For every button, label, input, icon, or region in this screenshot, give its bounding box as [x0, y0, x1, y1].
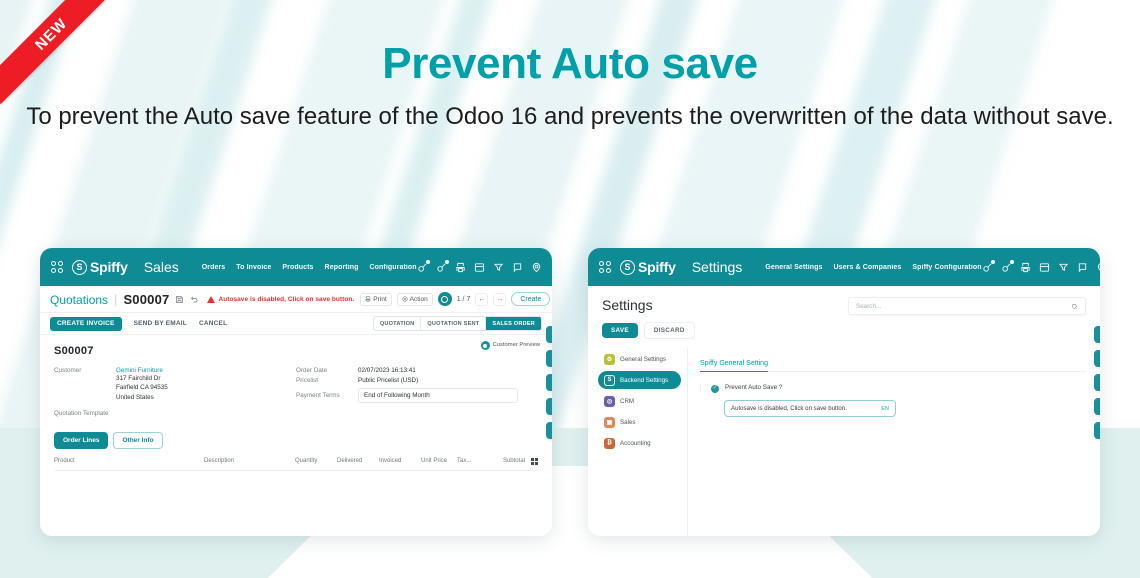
settings-navbar: S Spiffy Settings General Settings Users…	[588, 248, 1100, 286]
search-placeholder: Search...	[856, 303, 881, 310]
megaphone-icon[interactable]	[493, 262, 504, 273]
bookmark-icon[interactable]	[1094, 422, 1100, 439]
autosave-message-value: Autosave is disabled, Click on save butt…	[731, 405, 847, 412]
search-icon[interactable]	[1094, 350, 1100, 367]
spiffy-icon: S	[604, 375, 615, 386]
spiffy-logo-icon: S	[620, 260, 635, 275]
sidebar-item-label: General Settings	[620, 356, 666, 363]
form-column-right: Order Date 02/07/2023 16:13:41 Pricelist…	[296, 367, 538, 420]
current-app-name: Sales	[144, 259, 179, 275]
field-pricelist: Pricelist Public Pricelist (USD)	[296, 377, 538, 384]
loading-spinner-icon	[438, 292, 452, 306]
tab-other-info[interactable]: Other Info	[113, 432, 162, 449]
wand-icon[interactable]	[546, 374, 552, 391]
brand-logo[interactable]: S Spiffy	[620, 259, 676, 275]
settings-header: Settings Search...	[588, 286, 1100, 315]
setting-prevent-auto-save: ✓ Prevent Auto Save ?	[700, 384, 1086, 393]
column-product: Product	[54, 458, 204, 464]
search-icon	[1071, 303, 1078, 310]
create-invoice-button[interactable]: CREATE INVOICE	[50, 317, 122, 331]
menu-item-users-companies[interactable]: Users & Companies	[834, 264, 902, 271]
sales-form-sheet: Customer Preview S00007 Customer Gemini …	[40, 335, 552, 536]
save-button[interactable]: SAVE	[602, 323, 638, 338]
discard-icon[interactable]	[190, 293, 199, 306]
messages-icon[interactable]	[512, 262, 523, 273]
payment-terms-input[interactable]: End of Following Month	[358, 388, 518, 403]
menu-item-products[interactable]: Products	[282, 264, 313, 271]
activity-icon[interactable]	[474, 262, 485, 273]
settings-title: Settings	[602, 297, 653, 313]
printer-icon[interactable]	[1020, 262, 1031, 273]
breadcrumb-separator: |	[114, 292, 117, 307]
customer-preview-label: Customer Preview	[493, 342, 540, 349]
breadcrumb-record: S00007	[123, 292, 169, 307]
sales-menu: Orders To Invoice Products Reporting Con…	[202, 264, 417, 271]
sidebar-item-general-settings[interactable]: ⚙ General Settings	[598, 350, 681, 368]
link-icon[interactable]	[436, 262, 447, 273]
sidebar-item-crm[interactable]: ◎ CRM	[598, 392, 681, 410]
settings-main: Spiffy General Setting ✓ Prevent Auto Sa…	[688, 348, 1100, 536]
customer-label: Customer	[54, 367, 116, 374]
status-sales-order[interactable]: SALES ORDER	[486, 317, 541, 330]
link-icon[interactable]	[1001, 262, 1012, 273]
section-title: Spiffy General Setting	[700, 360, 768, 372]
column-delivered: Delivered	[337, 458, 379, 464]
action-button[interactable]: Action	[397, 293, 433, 306]
field-customer: Customer Gemini Furniture 317 Fairchild …	[54, 367, 296, 402]
discard-button[interactable]: DISCARD	[644, 322, 695, 339]
page-subtitle: To prevent the Auto save feature of the …	[0, 102, 1140, 132]
sales-navbar: S Spiffy Sales Orders To Invoice Product…	[40, 248, 552, 286]
cancel-button[interactable]: CANCEL	[199, 320, 227, 327]
page-title: Prevent Auto save	[0, 40, 1140, 88]
pager-counter: 1 / 7	[457, 296, 471, 303]
spiffy-logo-icon: S	[72, 260, 87, 275]
accounting-icon: ₿	[604, 438, 615, 449]
autosave-message-input[interactable]: Autosave is disabled, Click on save butt…	[724, 400, 896, 417]
prevent-auto-save-label: Prevent Auto Save ?	[725, 384, 782, 391]
menu-item-to-invoice[interactable]: To Invoice	[236, 264, 271, 271]
customer-value[interactable]: Gemini Furniture	[116, 367, 168, 374]
form-grid: Customer Gemini Furniture 317 Fairchild …	[54, 367, 538, 420]
menu-item-general-settings[interactable]: General Settings	[765, 264, 822, 271]
settings-menu: General Settings Users & Companies Spiff…	[765, 264, 981, 271]
sidebar-item-label: Sales	[620, 419, 635, 426]
create-button[interactable]: Create	[511, 292, 550, 306]
wand-icon[interactable]	[1094, 374, 1100, 391]
zoom-icon[interactable]	[1094, 398, 1100, 415]
current-app-name: Settings	[692, 259, 743, 275]
field-payment-terms: Payment Terms End of Following Month	[296, 388, 538, 403]
warning-triangle-icon	[207, 296, 215, 303]
record-title: S00007	[54, 345, 538, 357]
sales-icon: ▦	[604, 417, 615, 428]
pager-next-button[interactable]: →	[493, 293, 506, 306]
customer-preview-button[interactable]: Customer Preview	[481, 341, 540, 350]
bookmark-icon[interactable]	[546, 422, 552, 439]
brand-name: Spiffy	[90, 259, 128, 275]
field-order-date: Order Date 02/07/2023 16:13:41	[296, 367, 538, 374]
pager-prev-button[interactable]: ←	[475, 293, 488, 306]
column-invoiced: Invoiced	[379, 458, 421, 464]
headline-block: Prevent Auto save To prevent the Auto sa…	[0, 40, 1140, 132]
sidebar-item-backend-settings[interactable]: S Backend Settings	[598, 371, 681, 389]
sidebar-item-label: Backend Settings	[620, 377, 668, 384]
star-icon[interactable]	[1094, 326, 1100, 343]
activity-icon[interactable]	[1039, 262, 1050, 273]
pin-icon[interactable]	[1096, 262, 1100, 273]
sidebar-item-label: Accounting	[620, 440, 651, 447]
status-quotation-sent[interactable]: QUOTATION SENT	[421, 317, 486, 330]
sales-float-toolbar	[546, 326, 552, 439]
sales-action-statusbar: CREATE INVOICE SEND BY EMAIL CANCEL QUOT…	[40, 313, 552, 335]
print-label: Print	[373, 296, 386, 303]
status-quotation[interactable]: QUOTATION	[374, 317, 422, 330]
order-date-label: Order Date	[296, 367, 358, 374]
send-by-email-button[interactable]: SEND BY EMAIL	[134, 320, 187, 327]
search-input[interactable]: Search...	[848, 297, 1086, 315]
bug-icon[interactable]	[982, 262, 993, 273]
action-label: Action	[410, 296, 428, 303]
order-lines-table: Product Description Quantity Delivered I…	[54, 458, 538, 471]
pricelist-value[interactable]: Public Pricelist (USD)	[358, 377, 418, 384]
megaphone-icon[interactable]	[1058, 262, 1069, 273]
quotation-template-label: Quotation Template	[54, 410, 109, 417]
sales-control-panel: Quotations | S00007 Autosave is disabled…	[40, 286, 552, 313]
column-quantity: Quantity	[295, 458, 337, 464]
settings-actions: SAVE DISCARD	[588, 315, 1100, 348]
column-description: Description	[204, 458, 295, 464]
printer-icon[interactable]	[455, 262, 466, 273]
menu-item-configuration[interactable]: Configuration	[370, 264, 417, 271]
column-tax: Tax...	[457, 458, 479, 464]
column-options-icon[interactable]	[531, 458, 538, 465]
new-ribbon: NEW	[0, 0, 112, 112]
sales-screenshot-panel: S Spiffy Sales Orders To Invoice Product…	[40, 248, 552, 536]
settings-screenshot-panel: S Spiffy Settings General Settings Users…	[588, 248, 1100, 536]
autosave-warning: Autosave is disabled, Click on save butt…	[207, 296, 354, 303]
customer-preview-icon	[481, 341, 490, 350]
save-icon[interactable]	[175, 293, 184, 306]
bug-icon[interactable]	[417, 262, 428, 273]
apps-grid-icon[interactable]	[51, 261, 63, 273]
settings-body: ⚙ General Settings S Backend Settings ◎ …	[588, 348, 1100, 536]
payment-terms-label: Payment Terms	[296, 392, 358, 399]
setting-input-wrapper: Autosave is disabled, Click on save butt…	[700, 400, 1086, 417]
field-quotation-template: Quotation Template	[54, 410, 296, 417]
breadcrumb-quotations[interactable]: Quotations	[50, 293, 108, 307]
search-icon[interactable]	[546, 350, 552, 367]
tab-order-lines[interactable]: Order Lines	[54, 432, 108, 449]
customer-address-line-1: 317 Fairchild Dr	[116, 374, 168, 383]
notebook: Order Lines Other Info Product Descripti…	[54, 432, 538, 471]
column-unit-price: Unit Price	[421, 458, 457, 464]
prevent-auto-save-checkbox[interactable]: ✓	[711, 385, 719, 393]
gear-icon: ⚙	[604, 354, 615, 365]
pricelist-label: Pricelist	[296, 377, 358, 384]
pin-icon[interactable]	[531, 262, 542, 273]
settings-float-toolbar	[1094, 326, 1100, 439]
language-badge[interactable]: EN	[881, 406, 889, 412]
apps-grid-icon[interactable]	[599, 261, 611, 273]
new-ribbon-label: NEW	[0, 0, 112, 104]
menu-item-orders[interactable]: Orders	[202, 264, 226, 271]
settings-sidebar: ⚙ General Settings S Backend Settings ◎ …	[588, 348, 688, 536]
customer-address-line-3: United States	[116, 393, 168, 402]
breadcrumb: Quotations | S00007	[50, 292, 169, 307]
customer-address-line-2: Fairfield CA 94535	[116, 383, 168, 392]
status-badge: QUOTATION QUOTATION SENT SALES ORDER	[373, 316, 542, 331]
order-date-value[interactable]: 02/07/2023 16:13:41	[358, 367, 416, 374]
sidebar-item-accounting[interactable]: ₿ Accounting	[598, 434, 681, 452]
sidebar-item-sales[interactable]: ▦ Sales	[598, 413, 681, 431]
menu-item-spiffy-configuration[interactable]: Spiffy Configuration	[912, 264, 981, 271]
menu-item-reporting[interactable]: Reporting	[325, 264, 359, 271]
column-subtotal: Subtotal	[479, 458, 525, 464]
zoom-icon[interactable]	[546, 398, 552, 415]
print-button[interactable]: Print	[360, 293, 391, 306]
table-header-row: Product Description Quantity Delivered I…	[54, 458, 538, 471]
notebook-tabs: Order Lines Other Info	[54, 432, 538, 449]
crm-icon: ◎	[604, 396, 615, 407]
star-icon[interactable]	[546, 326, 552, 343]
form-column-left: Customer Gemini Furniture 317 Fairchild …	[54, 367, 296, 420]
sidebar-item-label: CRM	[620, 398, 634, 405]
brand-name: Spiffy	[638, 259, 676, 275]
brand-logo[interactable]: S Spiffy	[72, 259, 128, 275]
messages-icon[interactable]	[1077, 262, 1088, 273]
autosave-warning-text: Autosave is disabled, Click on save butt…	[218, 296, 354, 303]
